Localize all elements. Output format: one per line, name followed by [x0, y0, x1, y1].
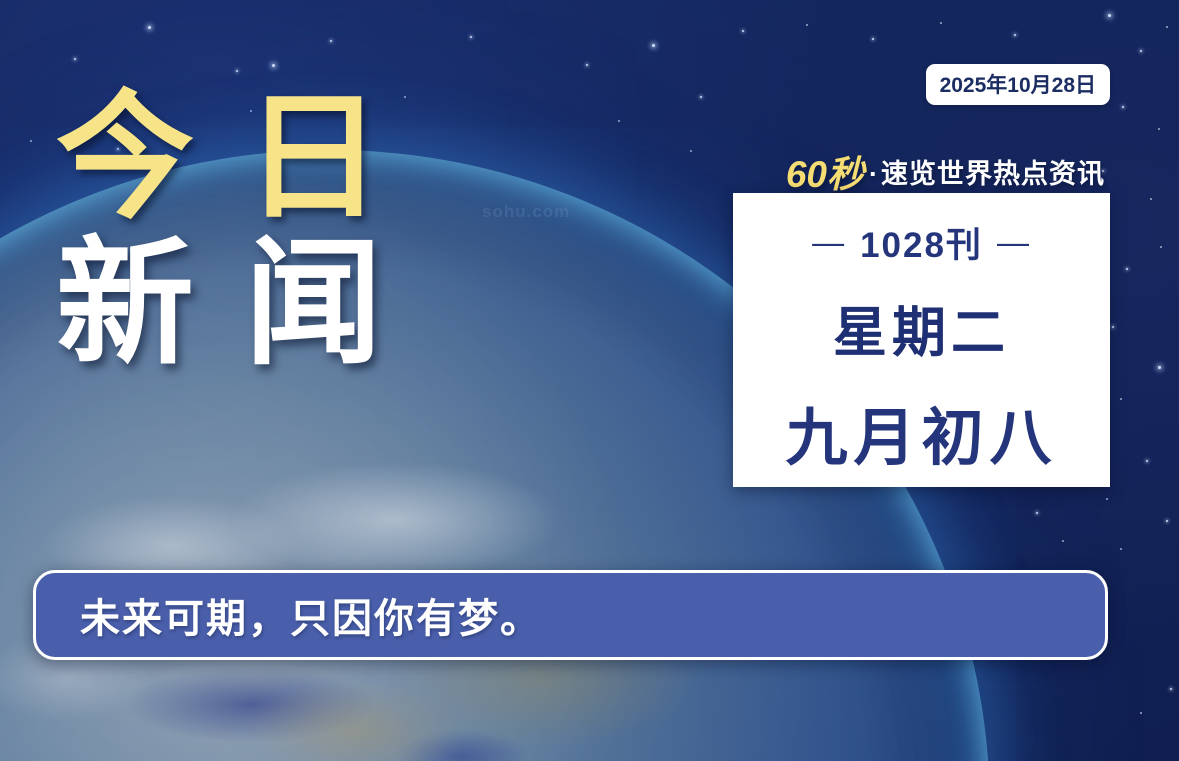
date-badge: 2025年10月28日 — [926, 64, 1110, 105]
issue-number-row: — 1028刊 — — [812, 217, 1031, 268]
tagline: 60秒·速览世界热点资讯 — [786, 144, 1105, 198]
tagline-text: 速览世界热点资讯 — [881, 159, 1105, 189]
poster-canvas: sohu.com 今 日 新 闻 2025年10月28日 60秒·速览世界热点资… — [0, 0, 1179, 761]
title-line-today: 今 日 — [56, 92, 388, 224]
tagline-separator: · — [864, 159, 881, 189]
quote-banner: 未来可期，只因你有梦。 — [33, 570, 1108, 660]
issue-dash-left: — — [812, 224, 846, 261]
issue-number: 1028刊 — [860, 217, 983, 268]
tagline-seconds: 60秒 — [786, 154, 864, 195]
weekday-label: 星期二 — [833, 288, 1010, 367]
quote-text: 未来可期，只因你有梦。 — [80, 586, 542, 644]
watermark: sohu.com — [482, 202, 570, 222]
issue-dash-right: — — [997, 224, 1031, 261]
title-line-news: 新 闻 — [56, 238, 388, 370]
lunar-date-label: 九月初八 — [785, 387, 1057, 477]
page-title: 今 日 新 闻 — [56, 92, 388, 371]
info-card: — 1028刊 — 星期二 九月初八 — [733, 193, 1110, 487]
